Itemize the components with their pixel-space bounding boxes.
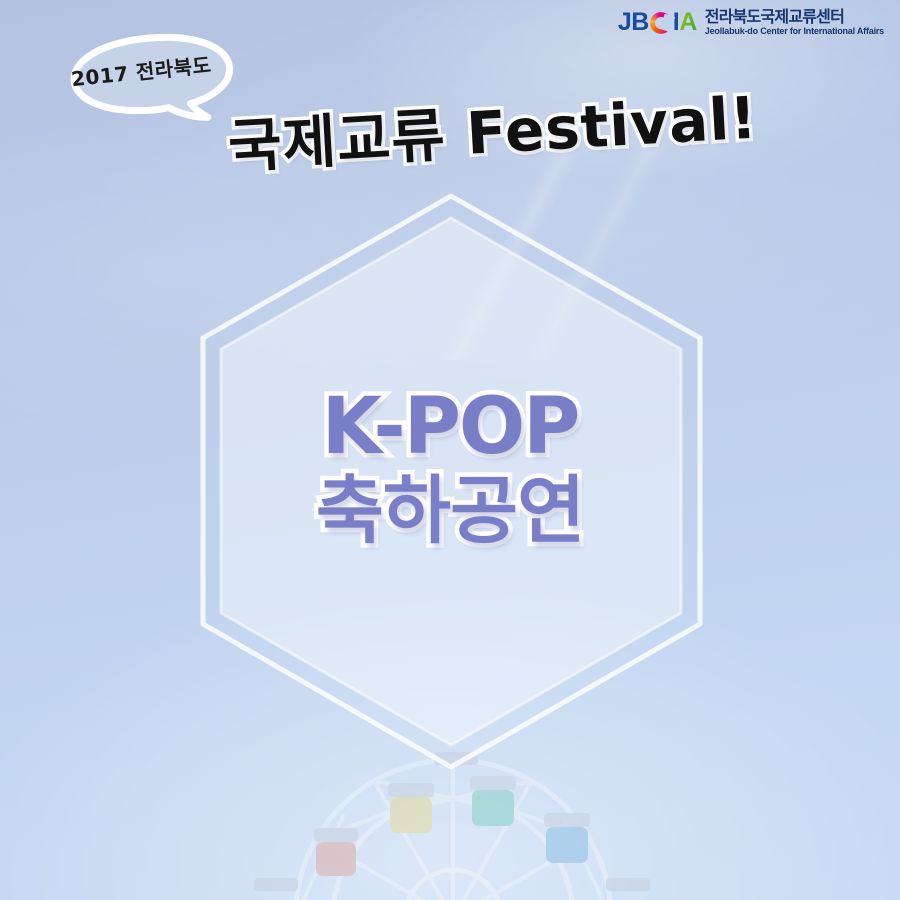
cabin-green [470,776,516,826]
ferris-hub-rim [405,870,501,900]
logo-name-korean: 전라북도국제교류센터 [705,9,884,26]
cabin-far-right [606,878,650,891]
cabin-top [434,752,478,765]
cabin-yellow [388,783,434,833]
festival-poster: JB I A 전라북도국제교류센터 Jeollabuk-do Center fo… [0,0,900,900]
cabin-far-left [254,878,298,891]
headline-line-1: K-POP [0,388,900,466]
logomark-jb: JB [618,10,649,35]
ferris-cabins [254,752,650,891]
ferris-inner-rim [333,798,573,900]
logo-wordmark: 전라북도국제교류센터 Jeollabuk-do Center for Inter… [705,9,884,37]
cabin-blue [544,813,590,863]
headline-block: K-POP 축하공연 [0,388,900,548]
cabin-red [314,828,358,876]
ferris-wheel [238,750,668,900]
ferris-outer-rim [295,760,611,900]
logomark-c-ring-icon [650,12,672,34]
jbcia-logomark: JB I A [618,10,697,35]
logomark-a: A [679,10,697,35]
logo-name-english: Jeollabuk-do Center for International Af… [705,27,884,37]
jbcia-logo[interactable]: JB I A 전라북도국제교류센터 Jeollabuk-do Center fo… [618,9,884,37]
page-title: 국제교류 Festival! [226,69,771,195]
headline-line-2: 축하공연 [0,474,900,548]
logo-bar: JB I A 전라북도국제교류센터 Jeollabuk-do Center fo… [0,0,900,46]
